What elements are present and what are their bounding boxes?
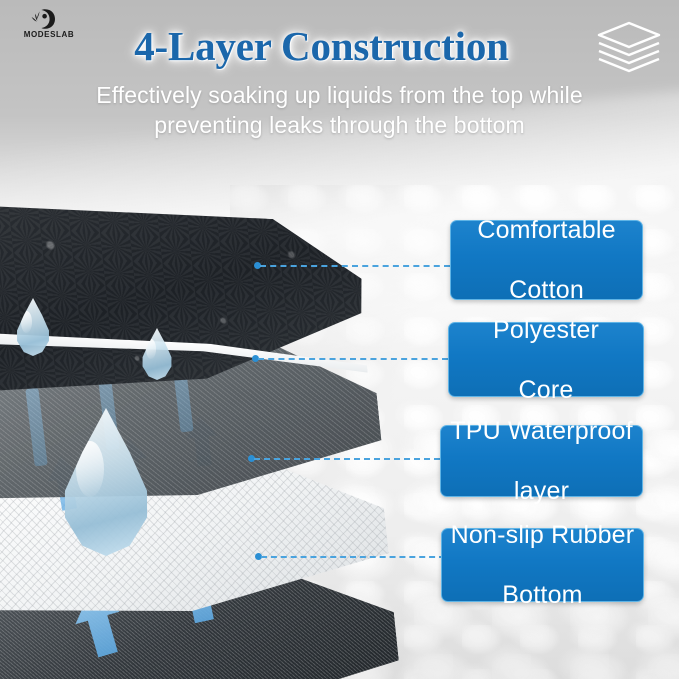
- connector-line-tpu: [254, 458, 440, 460]
- label-non-slip-rubber-bottom[interactable]: Non-slip Rubber Bottom: [441, 528, 644, 602]
- label-polyester-core-line2: Core: [455, 375, 637, 405]
- page-subtitle-line1: Effectively soaking up liquids from the …: [34, 80, 645, 110]
- connector-line-rubber: [261, 556, 445, 558]
- stacked-layers-icon: [593, 20, 665, 74]
- label-comfortable-cotton-line2: Cotton: [457, 275, 636, 305]
- connector-line-cotton: [260, 265, 450, 267]
- page-subtitle-line2: preventing leaks through the bottom: [34, 110, 645, 140]
- connector-line-polyester: [258, 358, 448, 360]
- label-polyester-core-line1: Polyester: [455, 315, 637, 345]
- label-tpu-waterproof-layer[interactable]: TPU Waterproof layer: [440, 425, 643, 497]
- label-tpu-waterproof-layer-line1: TPU Waterproof: [447, 416, 636, 446]
- label-non-slip-rubber-bottom-line1: Non-slip Rubber: [448, 520, 637, 550]
- label-non-slip-rubber-bottom-line2: Bottom: [448, 580, 637, 610]
- page-title: 4-Layer Construction: [0, 22, 679, 70]
- label-comfortable-cotton-line1: Comfortable: [457, 215, 636, 245]
- infographic-canvas: MODESLAB 4-Layer Construction Effectivel…: [0, 0, 679, 679]
- label-tpu-waterproof-layer-line2: layer: [447, 476, 636, 506]
- layered-product-illustration: [0, 150, 460, 679]
- page-subtitle: Effectively soaking up liquids from the …: [34, 80, 645, 140]
- label-comfortable-cotton[interactable]: Comfortable Cotton: [450, 220, 643, 300]
- label-polyester-core[interactable]: Polyester Core: [448, 322, 644, 397]
